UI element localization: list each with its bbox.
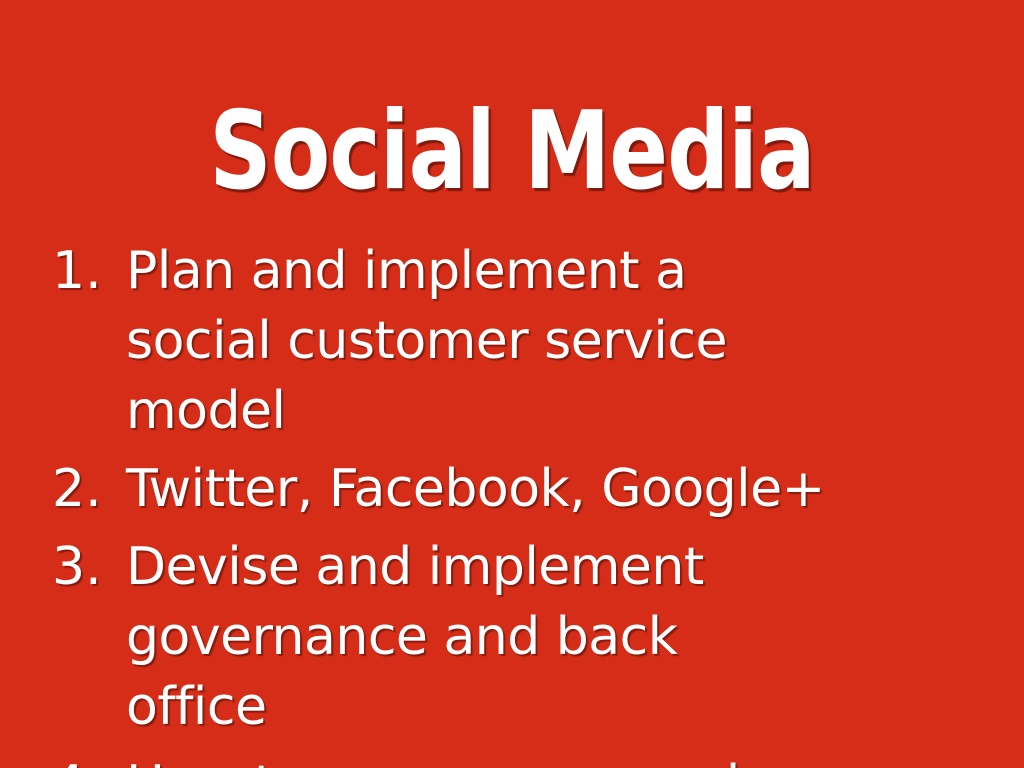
list-item-number: 4. xyxy=(52,750,126,768)
list-item-number: 2. xyxy=(52,454,126,524)
list-item-text: Twitter, Facebook, Google+ xyxy=(126,454,826,524)
list-item-text: Devise and implement governance and back… xyxy=(126,532,826,742)
list-item: 4. How to measure, record and report cha… xyxy=(52,750,992,768)
list-item: 2. Twitter, Facebook, Google+ xyxy=(52,454,992,524)
numbered-bullet-list: 1. Plan and implement a social customer … xyxy=(52,236,992,768)
list-item-number: 3. xyxy=(52,532,126,602)
slide-title: Social Media xyxy=(102,98,921,206)
list-item: 1. Plan and implement a social customer … xyxy=(52,236,992,446)
presentation-slide: Social Media 1. Plan and implement a soc… xyxy=(0,0,1024,768)
list-item-text: How to measure, record and report channe… xyxy=(126,750,826,768)
list-item-number: 1. xyxy=(52,236,126,306)
list-item-text: Plan and implement a social customer ser… xyxy=(126,236,826,446)
list-item: 3. Devise and implement governance and b… xyxy=(52,532,992,742)
